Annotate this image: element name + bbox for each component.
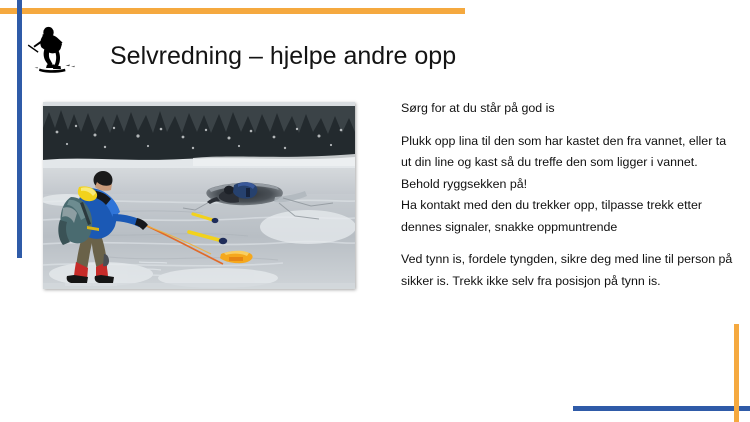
body-paragraph-2: Plukk opp lina til den som har kastet de… <box>401 131 733 196</box>
left-blue-bar <box>17 0 22 258</box>
body-text-block: Sørg for at du står på god is Plukk opp … <box>401 98 733 303</box>
body-paragraph-1: Sørg for at du står på god is <box>401 98 733 120</box>
skier-silhouette-icon <box>26 22 86 84</box>
right-orange-bar <box>734 324 739 422</box>
ice-rescue-photo <box>43 102 355 289</box>
bottom-blue-bar <box>573 406 750 411</box>
top-orange-bar <box>0 8 465 14</box>
body-paragraph-3: Ha kontakt med den du trekker opp, tilpa… <box>401 195 733 238</box>
page-title: Selvredning – hjelpe andre opp <box>110 40 670 72</box>
body-paragraph-4: Ved tynn is, fordele tyngden, sikre deg … <box>401 249 733 292</box>
